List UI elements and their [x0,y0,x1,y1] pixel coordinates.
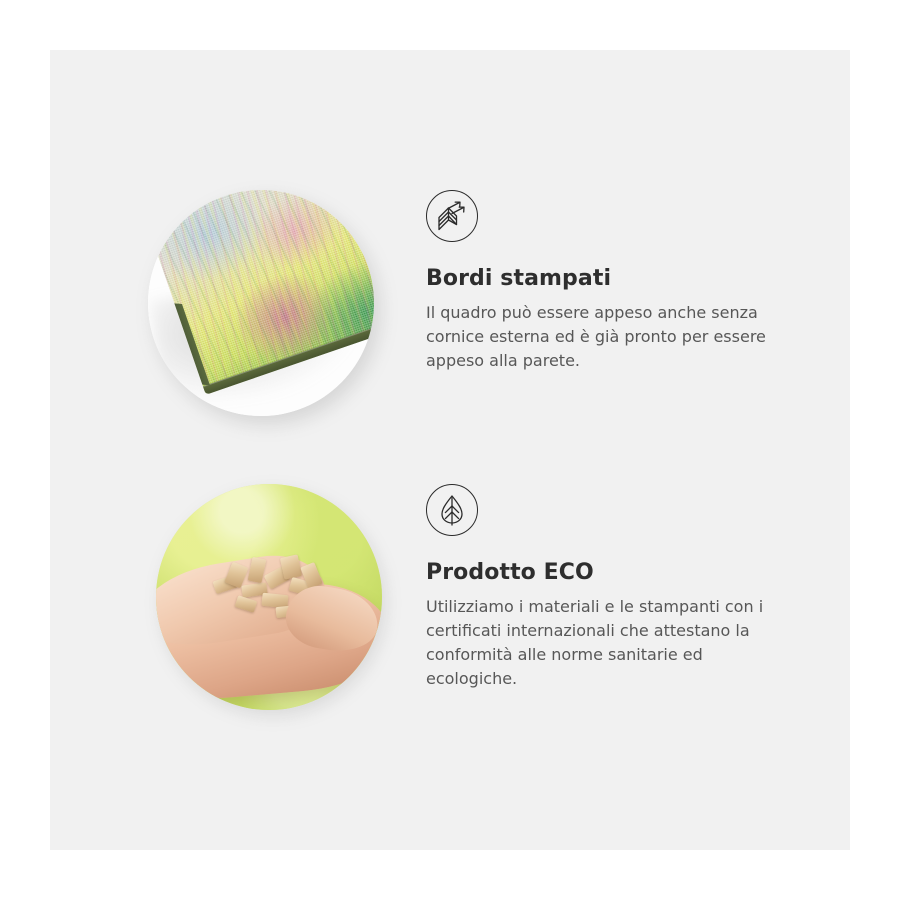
feature-text-column-2: Prodotto ECO Utilizziamo i materiali e l… [426,484,826,691]
leaf-icon [426,484,478,536]
feature-description: Utilizziamo i materiali e le stampanti c… [426,595,796,691]
feature-title: Prodotto ECO [426,561,826,585]
canvas-wrapped-edges-icon [426,190,478,242]
printed-canvas-corner-photo [148,190,374,416]
hands-holding-wood-chips-photo [156,484,382,710]
feature-text-column-1: Bordi stampati Il quadro può essere appe… [426,190,826,373]
product-feature-page: Bordi stampati Il quadro può essere appe… [0,0,900,900]
feature-title: Bordi stampati [426,267,826,291]
content-panel: Bordi stampati Il quadro può essere appe… [50,50,850,850]
feature-description: Il quadro può essere appeso anche senza … [426,301,796,373]
